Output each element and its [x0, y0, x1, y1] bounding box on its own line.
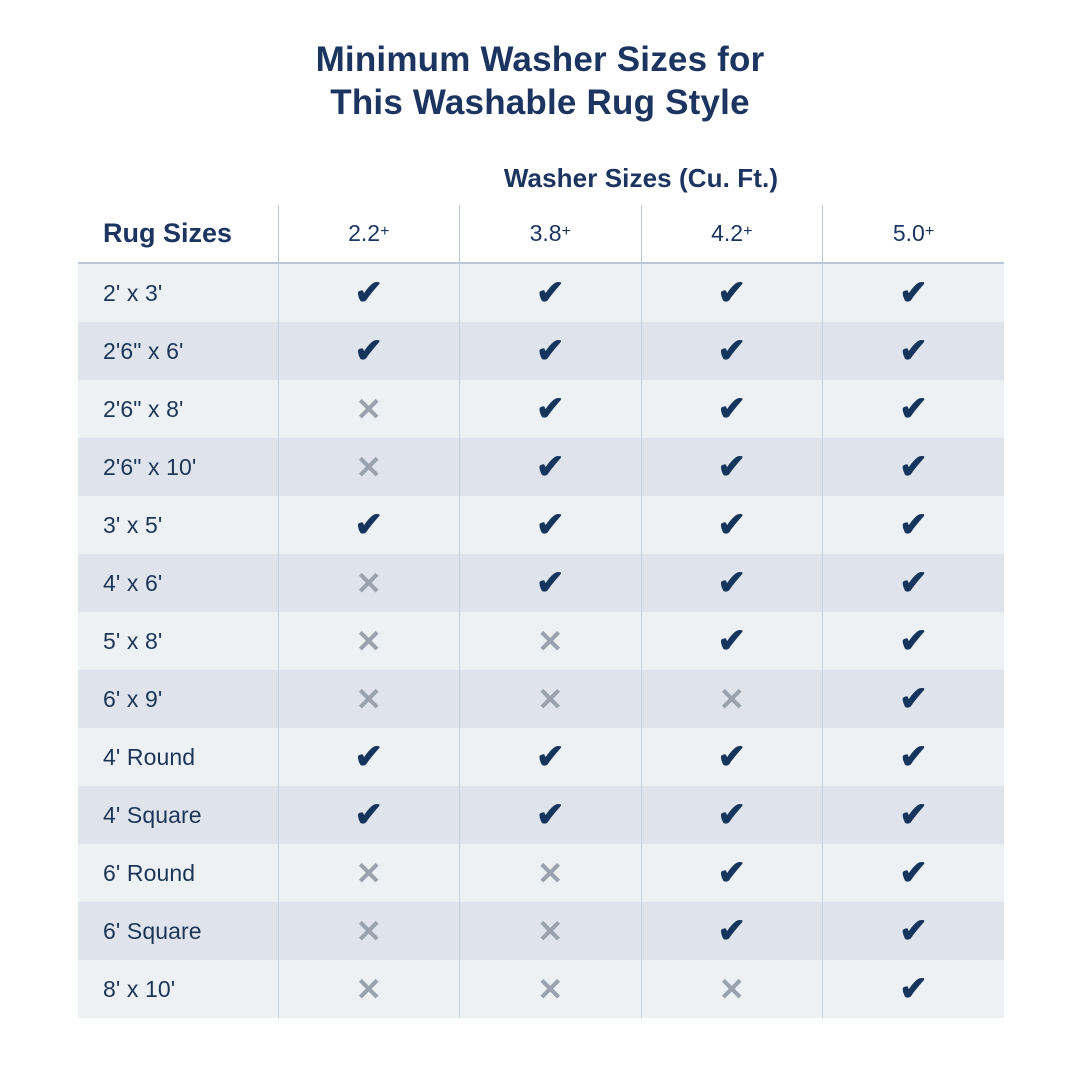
fit-cell: ✕ — [641, 670, 823, 728]
fit-cell: ✔ — [460, 322, 642, 380]
fit-cell: ✔ — [823, 438, 1005, 496]
checkmark-icon: ✔ — [899, 972, 928, 1006]
fit-cell: ✔ — [460, 728, 642, 786]
column-header-value: 5.0 — [893, 220, 925, 246]
fit-cell: ✔ — [278, 322, 460, 380]
checkmark-icon: ✔ — [899, 740, 928, 774]
fit-cell: ✔ — [641, 322, 823, 380]
table-row: 4' x 6'✕✔✔✔ — [78, 554, 1004, 612]
page-title-line-1: Minimum Washer Sizes for — [0, 38, 1080, 81]
table-row: 2'6" x 10'✕✔✔✔ — [78, 438, 1004, 496]
row-label: 4' Square — [78, 786, 278, 844]
column-header-4-2: 4.2+ — [641, 205, 823, 263]
cross-icon: ✕ — [537, 974, 563, 1005]
checkmark-icon: ✔ — [718, 856, 747, 890]
fit-cell: ✕ — [278, 554, 460, 612]
checkmark-icon: ✔ — [355, 798, 384, 832]
fit-cell: ✔ — [823, 322, 1005, 380]
checkmark-icon: ✔ — [899, 392, 928, 426]
fit-cell: ✔ — [641, 902, 823, 960]
fit-cell: ✔ — [460, 263, 642, 322]
checkmark-icon: ✔ — [718, 914, 747, 948]
column-header-value: 2.2 — [348, 220, 380, 246]
fit-cell: ✕ — [460, 960, 642, 1018]
checkmark-icon: ✔ — [718, 566, 747, 600]
column-header-value: 3.8 — [530, 220, 562, 246]
checkmark-icon: ✔ — [899, 682, 928, 716]
fit-cell: ✔ — [823, 844, 1005, 902]
checkmark-icon: ✔ — [899, 856, 928, 890]
fit-cell: ✕ — [278, 612, 460, 670]
table-header: Rug Sizes 2.2+ 3.8+ 4.2+ 5.0+ — [78, 205, 1004, 263]
table-row: 2'6" x 8'✕✔✔✔ — [78, 380, 1004, 438]
fit-cell: ✔ — [823, 670, 1005, 728]
fit-cell: ✕ — [278, 902, 460, 960]
checkmark-icon: ✔ — [536, 276, 565, 310]
table-row: 4' Square✔✔✔✔ — [78, 786, 1004, 844]
cross-icon: ✕ — [719, 974, 745, 1005]
table-row: 5' x 8'✕✕✔✔ — [78, 612, 1004, 670]
checkmark-icon: ✔ — [718, 392, 747, 426]
checkmark-icon: ✔ — [718, 450, 747, 484]
column-header-3-8: 3.8+ — [460, 205, 642, 263]
row-label: 8' x 10' — [78, 960, 278, 1018]
washer-sizes-super-header: Washer Sizes (Cu. Ft.) — [278, 163, 1004, 194]
fit-cell: ✔ — [278, 786, 460, 844]
table-row: 6' Round✕✕✔✔ — [78, 844, 1004, 902]
fit-cell: ✔ — [641, 438, 823, 496]
cross-icon: ✕ — [356, 452, 382, 483]
fit-cell: ✔ — [278, 728, 460, 786]
checkmark-icon: ✔ — [899, 334, 928, 368]
row-label: 5' x 8' — [78, 612, 278, 670]
fit-cell: ✔ — [823, 263, 1005, 322]
table-row: 3' x 5'✔✔✔✔ — [78, 496, 1004, 554]
fit-cell: ✔ — [641, 612, 823, 670]
cross-icon: ✕ — [356, 568, 382, 599]
cross-icon: ✕ — [356, 858, 382, 889]
page-title: Minimum Washer Sizes for This Washable R… — [0, 38, 1080, 124]
checkmark-icon: ✔ — [355, 334, 384, 368]
cross-icon: ✕ — [537, 916, 563, 947]
row-label: 4' Round — [78, 728, 278, 786]
checkmark-icon: ✔ — [899, 624, 928, 658]
checkmark-icon: ✔ — [536, 566, 565, 600]
fit-cell: ✕ — [278, 438, 460, 496]
fit-cell: ✔ — [641, 496, 823, 554]
fit-cell: ✔ — [823, 786, 1005, 844]
cross-icon: ✕ — [537, 858, 563, 889]
row-label: 6' Square — [78, 902, 278, 960]
fit-cell: ✕ — [460, 670, 642, 728]
fit-cell: ✔ — [278, 263, 460, 322]
fit-cell: ✔ — [641, 263, 823, 322]
column-header-value: 4.2 — [711, 220, 743, 246]
fit-cell: ✕ — [278, 960, 460, 1018]
column-header-plus: + — [562, 223, 571, 240]
fit-cell: ✔ — [460, 380, 642, 438]
row-label: 2'6" x 6' — [78, 322, 278, 380]
fit-cell: ✔ — [823, 554, 1005, 612]
cross-icon: ✕ — [356, 916, 382, 947]
checkmark-icon: ✔ — [718, 334, 747, 368]
fit-cell: ✔ — [823, 728, 1005, 786]
cross-icon: ✕ — [356, 626, 382, 657]
row-label: 6' x 9' — [78, 670, 278, 728]
fit-cell: ✔ — [278, 496, 460, 554]
cross-icon: ✕ — [356, 684, 382, 715]
column-header-5-0: 5.0+ — [823, 205, 1005, 263]
row-label: 6' Round — [78, 844, 278, 902]
row-label: 2'6" x 8' — [78, 380, 278, 438]
row-label: 4' x 6' — [78, 554, 278, 612]
washer-size-table: Rug Sizes 2.2+ 3.8+ 4.2+ 5.0+ 2' x 3'✔✔✔… — [78, 205, 1004, 1018]
table-row: 6' x 9'✕✕✕✔ — [78, 670, 1004, 728]
checkmark-icon: ✔ — [718, 624, 747, 658]
checkmark-icon: ✔ — [355, 508, 384, 542]
fit-cell: ✔ — [460, 438, 642, 496]
fit-cell: ✔ — [641, 380, 823, 438]
table-row: 4' Round✔✔✔✔ — [78, 728, 1004, 786]
cross-icon: ✕ — [719, 684, 745, 715]
checkmark-icon: ✔ — [899, 566, 928, 600]
fit-cell: ✕ — [278, 380, 460, 438]
fit-cell: ✔ — [641, 728, 823, 786]
checkmark-icon: ✔ — [899, 276, 928, 310]
checkmark-icon: ✔ — [536, 334, 565, 368]
fit-cell: ✔ — [641, 554, 823, 612]
washer-size-chart-page: Minimum Washer Sizes for This Washable R… — [0, 0, 1080, 1080]
cross-icon: ✕ — [537, 626, 563, 657]
page-title-line-2: This Washable Rug Style — [0, 81, 1080, 124]
rug-sizes-header: Rug Sizes — [78, 205, 278, 263]
table-body: 2' x 3'✔✔✔✔2'6" x 6'✔✔✔✔2'6" x 8'✕✔✔✔2'6… — [78, 263, 1004, 1018]
checkmark-icon: ✔ — [536, 450, 565, 484]
fit-cell: ✔ — [460, 786, 642, 844]
fit-cell: ✕ — [278, 670, 460, 728]
checkmark-icon: ✔ — [536, 798, 565, 832]
fit-cell: ✔ — [460, 554, 642, 612]
fit-cell: ✔ — [641, 786, 823, 844]
column-header-plus: + — [925, 223, 934, 240]
checkmark-icon: ✔ — [899, 450, 928, 484]
table-header-row: Rug Sizes 2.2+ 3.8+ 4.2+ 5.0+ — [78, 205, 1004, 263]
table-row: 8' x 10'✕✕✕✔ — [78, 960, 1004, 1018]
fit-cell: ✔ — [823, 960, 1005, 1018]
fit-cell: ✔ — [823, 380, 1005, 438]
fit-cell: ✔ — [823, 612, 1005, 670]
checkmark-icon: ✔ — [718, 276, 747, 310]
fit-cell: ✕ — [460, 612, 642, 670]
row-label: 3' x 5' — [78, 496, 278, 554]
checkmark-icon: ✔ — [718, 740, 747, 774]
table-row: 2' x 3'✔✔✔✔ — [78, 263, 1004, 322]
fit-cell: ✕ — [278, 844, 460, 902]
cross-icon: ✕ — [356, 394, 382, 425]
fit-cell: ✕ — [460, 902, 642, 960]
checkmark-icon: ✔ — [899, 508, 928, 542]
table-row: 6' Square✕✕✔✔ — [78, 902, 1004, 960]
checkmark-icon: ✔ — [355, 740, 384, 774]
row-label: 2' x 3' — [78, 263, 278, 322]
fit-cell: ✕ — [641, 960, 823, 1018]
column-header-plus: + — [380, 223, 389, 240]
checkmark-icon: ✔ — [355, 276, 384, 310]
row-label: 2'6" x 10' — [78, 438, 278, 496]
table-row: 2'6" x 6'✔✔✔✔ — [78, 322, 1004, 380]
fit-cell: ✔ — [460, 496, 642, 554]
cross-icon: ✕ — [537, 684, 563, 715]
checkmark-icon: ✔ — [536, 740, 565, 774]
checkmark-icon: ✔ — [899, 798, 928, 832]
fit-cell: ✔ — [823, 902, 1005, 960]
checkmark-icon: ✔ — [718, 798, 747, 832]
fit-cell: ✕ — [460, 844, 642, 902]
fit-cell: ✔ — [823, 496, 1005, 554]
checkmark-icon: ✔ — [536, 392, 565, 426]
fit-cell: ✔ — [641, 844, 823, 902]
cross-icon: ✕ — [356, 974, 382, 1005]
checkmark-icon: ✔ — [718, 508, 747, 542]
column-header-plus: + — [743, 223, 752, 240]
column-header-2-2: 2.2+ — [278, 205, 460, 263]
checkmark-icon: ✔ — [899, 914, 928, 948]
checkmark-icon: ✔ — [536, 508, 565, 542]
